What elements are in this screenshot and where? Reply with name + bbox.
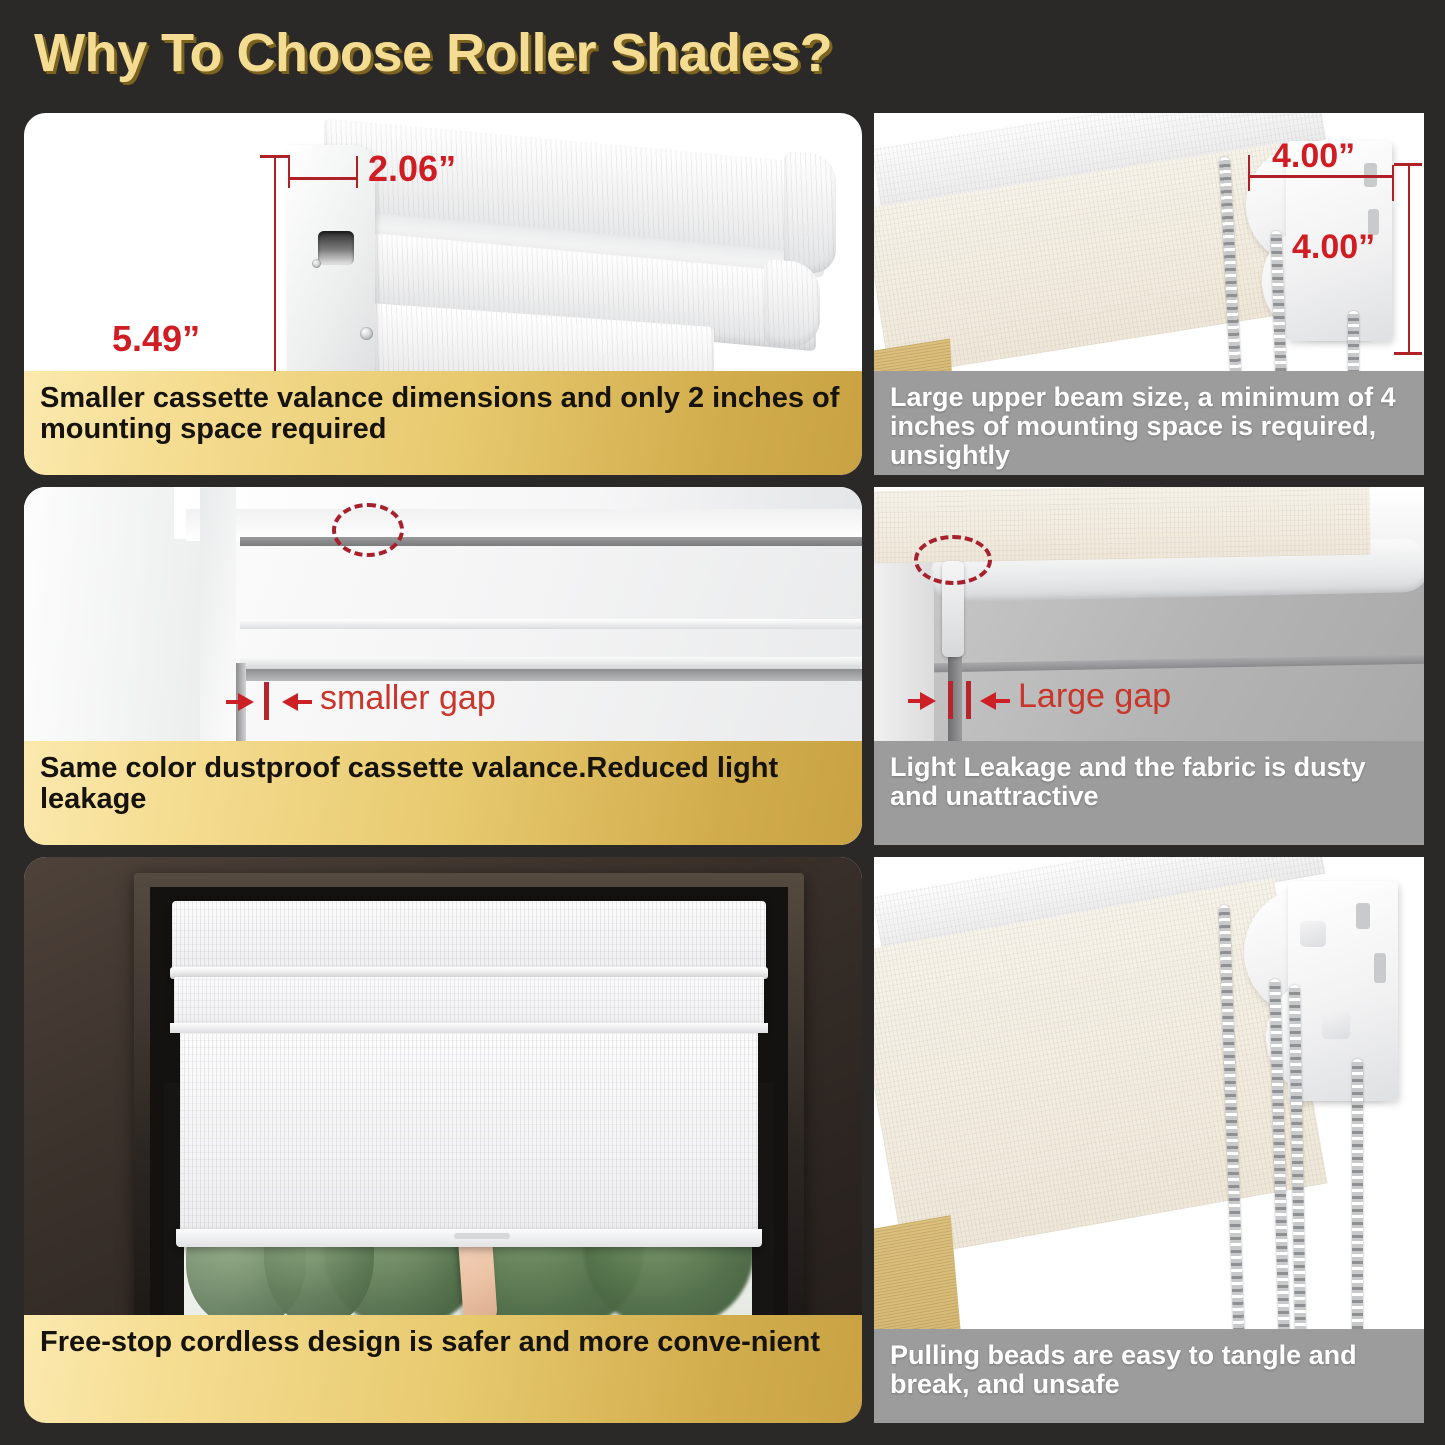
panel-pro-cassette-dimensions: 2.06” 5.49” Smaller cassette valance dim… — [24, 113, 862, 475]
panel-6-caption: Pulling beads are easy to tangle and bre… — [874, 1329, 1424, 1423]
panel-pro-cordless-design: Free-stop cordless design is safer and m… — [24, 857, 862, 1423]
panel-pro-dustproof-valance: smaller gap Same color dustproof cassett… — [24, 487, 862, 845]
page-title: Why To Choose Roller Shades? — [34, 22, 832, 84]
annotation-large-gap: Large gap — [1018, 677, 1171, 716]
dimension-label-beam-height: 4.00” — [1292, 228, 1375, 267]
panel-con-upper-beam-size: 4.00” 4.00” Large upper beam size, a min… — [874, 113, 1424, 475]
dimension-label-height: 5.49” — [112, 318, 200, 360]
panel-con-pulling-beads: Pulling beads are easy to tangle and bre… — [874, 857, 1424, 1423]
panel-1-caption: Smaller cassette valance dimensions and … — [24, 371, 862, 475]
dimension-label-beam-width: 4.00” — [1272, 137, 1355, 176]
panel-con-light-leakage: Large gap Light Leakage and the fabric i… — [874, 487, 1424, 845]
panel-4-caption: Light Leakage and the fabric is dusty an… — [874, 741, 1424, 845]
annotation-smaller-gap: smaller gap — [320, 679, 496, 718]
dimension-label-width: 2.06” — [368, 148, 456, 190]
panel-3-caption: Same color dustproof cassette valance.Re… — [24, 741, 862, 845]
infographic-root: Why To Choose Roller Shades? 2.06” — [0, 0, 1445, 1445]
panel-5-caption: Free-stop cordless design is safer and m… — [24, 1315, 862, 1423]
panel-2-caption: Large upper beam size, a minimum of 4 in… — [874, 371, 1424, 475]
